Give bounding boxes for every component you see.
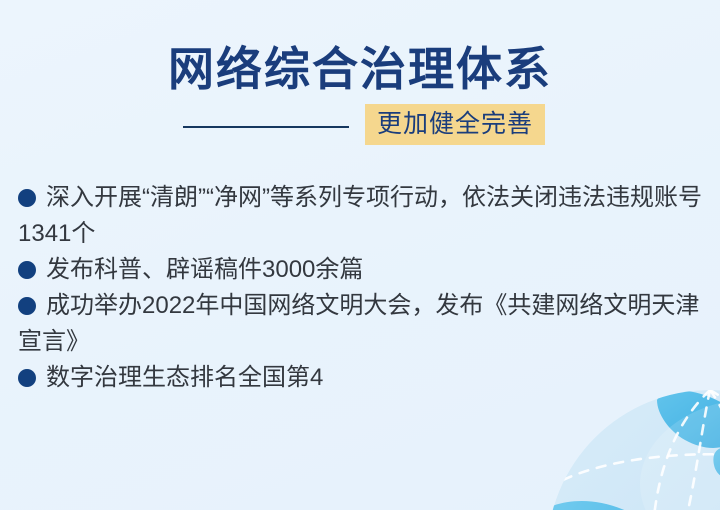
highlights-list: 深入开展“清朗”“净网”等系列专项行动，依法关闭违法违规账号1341个 发布科普… [18,180,708,396]
list-item-text: 数字治理生态排名全国第4 [46,364,323,391]
list-item: 发布科普、辟谣稿件3000余篇 [18,252,708,288]
list-item-text: 发布科普、辟谣稿件3000余篇 [46,256,363,283]
bullet-dot-icon [18,261,36,279]
globe-decoration [545,388,720,510]
list-item-text: 深入开展“清朗”“净网”等系列专项行动，依法关闭违法违规账号1341个 [18,184,702,247]
bullet-dot-icon [18,189,36,207]
bullet-dot-icon [18,297,36,315]
list-item: 深入开展“清朗”“净网”等系列专项行动，依法关闭违法违规账号1341个 [18,180,708,252]
poster-header: 网络综合治理体系 更加健全完善 [0,0,720,160]
poster-canvas: 网络综合治理体系 更加健全完善 深入开展“清朗”“净网”等系列专项行动，依法关闭… [0,0,720,510]
bullet-dot-icon [18,369,36,387]
list-item-text: 成功举办2022年中国网络文明大会，发布《共建网络文明天津宣言》 [18,292,699,355]
page-title: 网络综合治理体系 [0,42,720,96]
globe-icon [545,388,720,510]
list-item: 成功举办2022年中国网络文明大会，发布《共建网络文明天津宣言》 [18,288,708,360]
status-badge: 更加健全完善 [365,104,545,145]
title-divider [183,126,349,128]
list-item: 数字治理生态排名全国第4 [18,360,708,396]
subtitle-row: 更加健全完善 [0,104,720,148]
